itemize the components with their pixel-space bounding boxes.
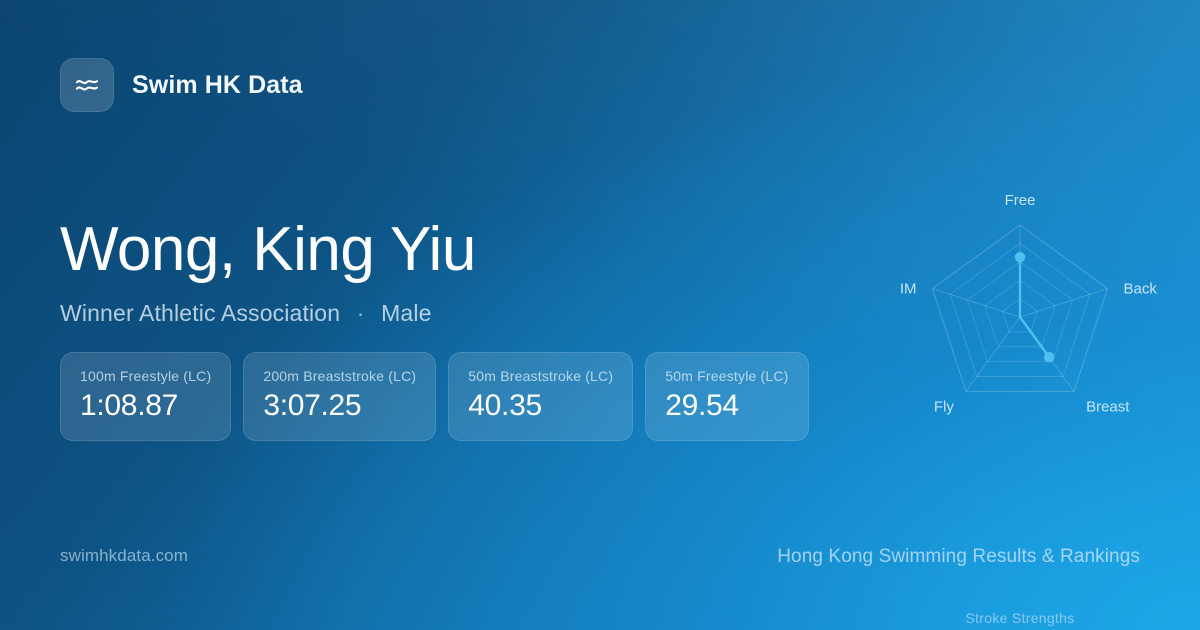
brand: Swim HK Data xyxy=(60,58,303,112)
event-name: 200m Breaststroke xyxy=(263,368,384,384)
svg-text:Fly: Fly xyxy=(934,398,954,415)
event-time: 3:07.25 xyxy=(263,389,416,423)
event-course: (LC) xyxy=(183,368,211,384)
athlete-meta: Winner Athletic Association · Male xyxy=(60,300,476,327)
event-course: (LC) xyxy=(585,368,613,384)
event-label: 50m Freestyle(LC) xyxy=(665,368,788,384)
event-name: 100m Freestyle xyxy=(80,368,179,384)
svg-text:Breast: Breast xyxy=(1086,398,1130,415)
event-label: 200m Breaststroke(LC) xyxy=(263,368,416,384)
event-card: 200m Breaststroke(LC) 3:07.25 xyxy=(243,352,436,441)
stroke-strengths-radar-chart: FreeBackBreastFlyIM Stroke Strengths xyxy=(858,168,1182,468)
event-time: 40.35 xyxy=(468,389,613,423)
event-label: 50m Breaststroke(LC) xyxy=(468,368,613,384)
event-card-list: 100m Freestyle(LC) 1:08.87 200m Breastst… xyxy=(60,352,809,441)
footer-site: swimhkdata.com xyxy=(60,546,188,566)
svg-text:Back: Back xyxy=(1124,281,1158,298)
athlete-header: Wong, King Yiu Winner Athletic Associati… xyxy=(60,218,476,327)
athlete-gender: Male xyxy=(381,300,431,326)
event-card: 100m Freestyle(LC) 1:08.87 xyxy=(60,352,231,441)
event-label: 100m Freestyle(LC) xyxy=(80,368,211,384)
event-card: 50m Breaststroke(LC) 40.35 xyxy=(448,352,633,441)
radar-caption: Stroke Strengths xyxy=(858,610,1182,626)
og-card: Swim HK Data Wong, King Yiu Winner Athle… xyxy=(0,0,1200,630)
athlete-club: Winner Athletic Association xyxy=(60,300,340,326)
svg-text:Free: Free xyxy=(1005,192,1036,209)
event-card: 50m Freestyle(LC) 29.54 xyxy=(645,352,808,441)
event-name: 50m Freestyle xyxy=(665,368,756,384)
event-name: 50m Breaststroke xyxy=(468,368,581,384)
footer-tagline: Hong Kong Swimming Results & Rankings xyxy=(777,546,1140,568)
event-course: (LC) xyxy=(388,368,416,384)
svg-text:IM: IM xyxy=(900,281,917,298)
wave-icon xyxy=(60,58,114,112)
event-time: 29.54 xyxy=(665,389,788,423)
event-course: (LC) xyxy=(761,368,789,384)
page-title: Wong, King Yiu xyxy=(60,218,476,282)
event-time: 1:08.87 xyxy=(80,389,211,423)
brand-name: Swim HK Data xyxy=(132,71,303,100)
meta-separator: · xyxy=(357,300,365,327)
